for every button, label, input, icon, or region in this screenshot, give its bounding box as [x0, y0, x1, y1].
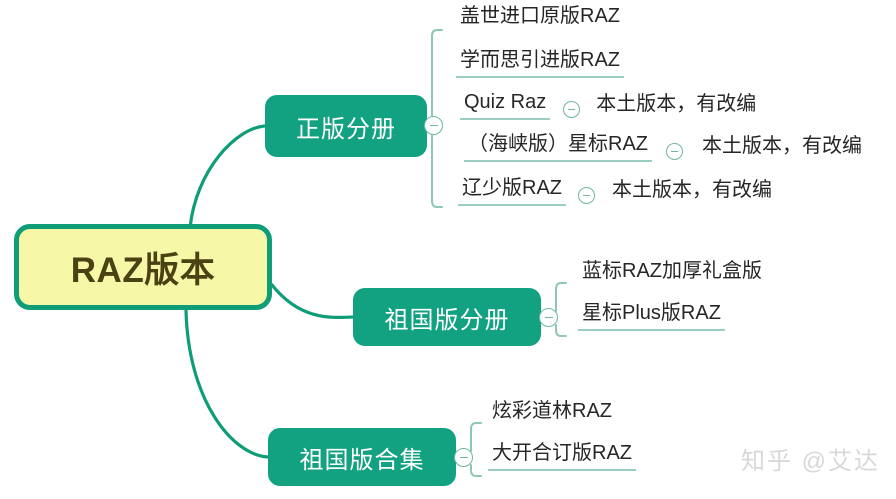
leaf-label: 星标Plus版RAZ — [578, 303, 725, 331]
branch-node-2[interactable]: 祖国版合集 — [268, 428, 456, 486]
watermark: 知乎 @艾达 — [741, 441, 880, 476]
minus-circle-icon-branch-2[interactable] — [454, 448, 473, 467]
connector-root-to-branch-2 — [186, 310, 268, 457]
leaf-label: 炫彩道林RAZ — [488, 401, 616, 427]
leaf-label: 蓝标RAZ加厚礼盒版 — [578, 261, 766, 287]
leaf-toggle-wrap — [566, 188, 610, 206]
leaf-item[interactable]: 辽少版RAZ 本土版本，有改编 — [458, 178, 774, 206]
leaf-note: 本土版本，有改编 — [700, 136, 864, 162]
bracket-branch-2 — [471, 423, 481, 476]
leaf-toggle-wrap — [550, 102, 594, 120]
leaf-item[interactable]: 星标Plus版RAZ — [578, 303, 725, 331]
branch-node-1-label: 祖国版分册 — [385, 300, 510, 335]
connector-root-to-branch-0 — [190, 126, 265, 228]
connector-root-to-branch-1 — [272, 285, 353, 317]
leaf-item[interactable]: 大开合订版RAZ — [488, 443, 636, 471]
root-node[interactable]: RAZ版本 — [14, 224, 272, 310]
leaf-item[interactable]: 盖世进口原版RAZ — [456, 6, 624, 32]
branch-node-1[interactable]: 祖国版分册 — [353, 288, 541, 346]
leaf-label: 大开合订版RAZ — [488, 443, 636, 471]
leaf-item[interactable]: （海峡版）星标RAZ 本土版本，有改编 — [464, 134, 864, 162]
branch-node-0-label: 正版分册 — [296, 109, 396, 144]
minus-circle-icon-branch-0[interactable] — [424, 116, 443, 135]
root-node-label: RAZ版本 — [71, 242, 215, 293]
minus-circle-icon-leaf[interactable] — [666, 143, 683, 160]
branch-node-2-label: 祖国版合集 — [300, 440, 425, 475]
minus-circle-icon-leaf[interactable] — [563, 101, 580, 118]
leaf-item[interactable]: Quiz Raz 本土版本，有改编 — [460, 92, 758, 120]
leaf-item[interactable]: 学而思引进版RAZ — [456, 50, 624, 78]
minus-circle-icon-leaf[interactable] — [578, 187, 595, 204]
leaf-label: （海峡版）星标RAZ — [464, 134, 652, 162]
leaf-item[interactable]: 蓝标RAZ加厚礼盒版 — [578, 261, 766, 287]
leaf-item[interactable]: 炫彩道林RAZ — [488, 401, 616, 427]
bracket-branch-1 — [556, 283, 566, 336]
leaf-note: 本土版本，有改编 — [610, 180, 774, 206]
leaf-note: 本土版本，有改编 — [594, 94, 758, 120]
mindmap-canvas: RAZ版本 正版分册 盖世进口原版RAZ 学而思引进版RAZ Quiz Raz … — [0, 0, 896, 499]
leaf-label: Quiz Raz — [460, 92, 550, 120]
minus-circle-icon-branch-1[interactable] — [539, 308, 558, 327]
leaf-label: 盖世进口原版RAZ — [456, 6, 624, 32]
leaf-label: 学而思引进版RAZ — [456, 50, 624, 78]
leaf-label: 辽少版RAZ — [458, 178, 566, 206]
branch-node-0[interactable]: 正版分册 — [265, 95, 427, 157]
leaf-toggle-wrap — [652, 144, 700, 162]
